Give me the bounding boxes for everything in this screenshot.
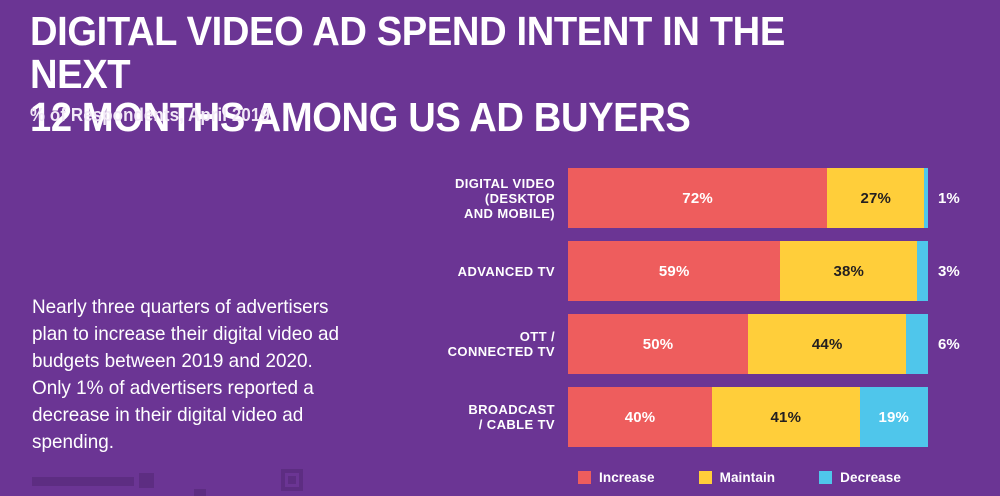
legend-swatch-icon bbox=[699, 471, 712, 484]
bar-segment-increase: 40% bbox=[568, 387, 712, 447]
bar-outside-value: 6% bbox=[928, 336, 960, 353]
bar-segment-value: 72% bbox=[682, 190, 713, 207]
bar-category-label: ADVANCED TV bbox=[430, 264, 568, 279]
bar-track: 72%27%1% bbox=[568, 168, 928, 228]
bar-segment-value: 27% bbox=[860, 190, 891, 207]
bar-category-label: DIGITAL VIDEO (DESKTOP AND MOBILE) bbox=[430, 176, 568, 221]
chart-bar-row: OTT / CONNECTED TV50%44%6%6% bbox=[430, 314, 990, 374]
footer-logo-inner-icon bbox=[288, 476, 296, 484]
footer-logo-fragment bbox=[281, 469, 303, 491]
bar-segment-value: 19% bbox=[878, 409, 909, 426]
bar-segment-maintain: 44% bbox=[748, 314, 906, 374]
bar-segment-value: 44% bbox=[812, 336, 843, 353]
bar-track: 59%38%3% bbox=[568, 241, 928, 301]
chart-bar-row: BROADCAST / CABLE TV40%41%19% bbox=[430, 387, 990, 447]
legend-swatch-icon bbox=[578, 471, 591, 484]
bar-segment-increase: 59% bbox=[568, 241, 780, 301]
legend-item-maintain: Maintain bbox=[699, 470, 776, 485]
bar-segment-value: 41% bbox=[770, 409, 801, 426]
bar-segment-decrease: 19% bbox=[860, 387, 928, 447]
bar-segment-maintain: 38% bbox=[780, 241, 917, 301]
stacked-bar-chart: DIGITAL VIDEO (DESKTOP AND MOBILE)72%27%… bbox=[0, 0, 1000, 460]
bar-category-label: OTT / CONNECTED TV bbox=[430, 329, 568, 359]
bar-segment-value: 40% bbox=[625, 409, 656, 426]
bar-segment-maintain: 41% bbox=[712, 387, 860, 447]
bar-segment-value: 50% bbox=[643, 336, 674, 353]
infographic-canvas: DIGITAL VIDEO AD SPEND INTENT IN THE NEX… bbox=[0, 0, 1000, 496]
bar-segment-decrease: 6% bbox=[906, 314, 928, 374]
bar-segment-maintain: 27% bbox=[827, 168, 924, 228]
bar-outside-value: 3% bbox=[928, 263, 960, 280]
bar-segment-value: 59% bbox=[659, 263, 690, 280]
bar-segment-decrease: 3% bbox=[917, 241, 928, 301]
chart-bar-row: ADVANCED TV59%38%3%3% bbox=[430, 241, 990, 301]
legend-swatch-icon bbox=[819, 471, 832, 484]
bar-track: 40%41%19% bbox=[568, 387, 928, 447]
bar-segment-increase: 72% bbox=[568, 168, 827, 228]
bar-track: 50%44%6% bbox=[568, 314, 928, 374]
legend-label: Maintain bbox=[720, 470, 776, 485]
footer-square-fragment bbox=[139, 473, 154, 488]
bar-segment-increase: 50% bbox=[568, 314, 748, 374]
chart-legend: IncreaseMaintainDecrease bbox=[578, 470, 901, 485]
legend-item-increase: Increase bbox=[578, 470, 655, 485]
chart-bar-row: DIGITAL VIDEO (DESKTOP AND MOBILE)72%27%… bbox=[430, 168, 990, 228]
footer-tick-fragment bbox=[194, 489, 206, 496]
legend-label: Decrease bbox=[840, 470, 901, 485]
bar-outside-value: 1% bbox=[928, 190, 960, 207]
footer-bar-fragment bbox=[32, 477, 134, 486]
legend-item-decrease: Decrease bbox=[819, 470, 901, 485]
bar-segment-value: 38% bbox=[833, 263, 864, 280]
bar-category-label: BROADCAST / CABLE TV bbox=[430, 402, 568, 432]
legend-label: Increase bbox=[599, 470, 655, 485]
